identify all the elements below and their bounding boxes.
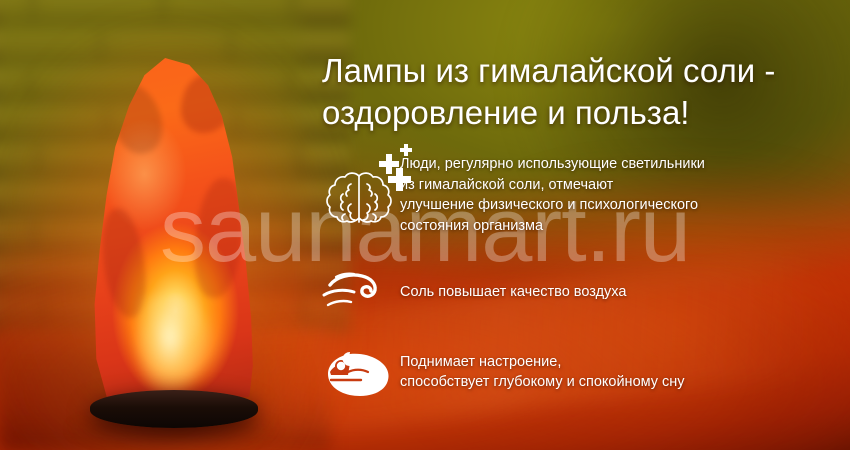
benefit-3-line-2: способствует глубокому и спокойному сну [400,372,685,393]
benefit-1-line-4: состояния организма [400,216,705,237]
lamp-inner-glow [134,296,206,400]
sleeping-person-icon [318,344,400,400]
headline-line-1: Лампы из гималайской соли - [322,50,842,92]
benefit-2-line-1: Соль повышает качество воздуха [400,282,626,303]
lamp-wooden-base [90,390,258,428]
benefit-1-line-3: улучшение физического и психологического [400,195,705,216]
benefit-3-line-1: Поднимает настроение, [400,352,685,373]
brain-sparkle-icon [318,152,400,232]
benefits-list: Люди, регулярно использующие светильники… [318,152,838,400]
benefit-text-sleep: Поднимает настроение, способствует глубо… [400,352,685,393]
benefit-item-brain: Люди, регулярно использующие светильники… [318,152,838,238]
benefit-text-air-quality: Соль повышает качество воздуха [400,282,626,303]
benefit-item-sleep: Поднимает настроение, способствует глубо… [318,344,838,400]
himalayan-salt-lamp-image [78,58,268,430]
wind-swirl-icon [318,268,400,316]
headline-line-2: оздоровление и польза! [322,92,842,134]
page-title: Лампы из гималайской соли - оздоровление… [322,50,842,134]
benefit-text-brain: Люди, регулярно использующие светильники… [400,152,705,236]
benefit-1-line-1: Люди, регулярно использующие светильники [400,154,705,175]
benefit-item-air-quality: Соль повышает качество воздуха [318,268,838,316]
benefit-1-line-2: из гималайской соли, отмечают [400,175,705,196]
salt-lamp-promo-banner: saunamart.ru Лампы из гималайской соли -… [0,0,850,450]
